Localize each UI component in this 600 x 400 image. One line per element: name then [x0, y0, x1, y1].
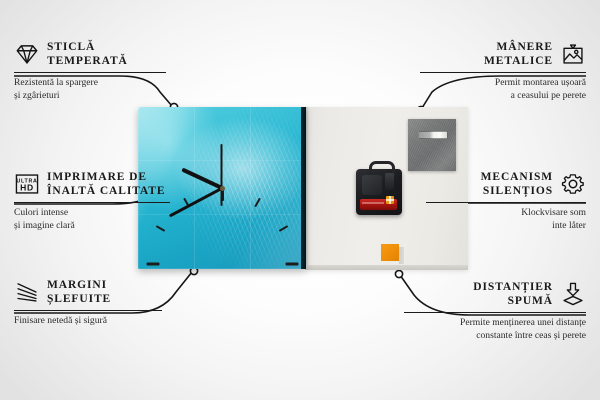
callout-title: MARGINI ȘLEFUITE	[47, 278, 111, 306]
infographic-canvas: STICLĂ TEMPERATĂ Rezistentă la spargere …	[0, 0, 600, 400]
callout-manere-metalice: MÂNERE METALICE Permit montarea ușoară a…	[420, 40, 586, 103]
marker-distantier	[395, 270, 402, 277]
callout-rule	[426, 202, 586, 203]
clock-center-pin	[220, 186, 225, 191]
gear-icon	[560, 171, 586, 197]
metal-hanger-plate	[408, 119, 456, 171]
callout-subtitle: Finisare netedă și sigură	[14, 315, 162, 328]
ultra-hd-icon: ultra HD	[14, 171, 40, 197]
callout-rule	[14, 310, 162, 311]
callout-subtitle: Permit montarea ușoară a ceasului pe per…	[420, 77, 586, 102]
callout-distantier-spuma: DISTANȚIER SPUMĂ Permite menținerea unei…	[404, 280, 586, 343]
picture-hanger-icon	[560, 41, 586, 67]
callout-title: DISTANȚIER SPUMĂ	[473, 280, 553, 308]
svg-text:HD: HD	[20, 183, 34, 193]
callout-title-row: DISTANȚIER SPUMĂ	[404, 280, 586, 308]
callout-title-row: ultra HD IMPRIMARE DE ÎNALTĂ CALITATE	[14, 170, 170, 198]
callout-title: IMPRIMARE DE ÎNALTĂ CALITATE	[47, 170, 165, 198]
callout-title-row: STICLĂ TEMPERATĂ	[14, 40, 166, 68]
foam-spacer-shadow	[399, 247, 404, 264]
callout-margini-slefuite: MARGINI ȘLEFUITE Finisare netedă și sigu…	[14, 278, 162, 328]
callout-title-row: MÂNERE METALICE	[420, 40, 586, 68]
callout-rule	[14, 202, 170, 203]
panel-bottom-edge	[305, 265, 468, 270]
callout-title-row: MARGINI ȘLEFUITE	[14, 278, 162, 306]
callout-title: MECANISM SILENȚIOS	[481, 170, 553, 198]
hanger-slot	[418, 131, 448, 139]
callout-rule	[420, 72, 586, 73]
clock-glass-edge	[301, 107, 306, 269]
callout-rule	[404, 312, 586, 313]
foam-spacer-icon	[560, 281, 586, 307]
battery-terminal	[386, 196, 394, 204]
mechanism-body	[362, 175, 382, 195]
callout-subtitle: Klockvisare som inte låter	[426, 207, 586, 232]
clock-mechanism	[356, 169, 402, 215]
callout-title: MÂNERE METALICE	[484, 40, 553, 68]
callout-title-row: MECANISM SILENȚIOS	[426, 170, 586, 198]
callout-subtitle: Permite menținerea unei distanțe constan…	[404, 317, 586, 342]
callout-sticla-temperata: STICLĂ TEMPERATĂ Rezistentă la spargere …	[14, 40, 166, 103]
mechanism-shaft	[385, 173, 394, 190]
foam-spacer	[381, 244, 399, 261]
diamond-icon	[14, 41, 40, 67]
polished-edges-icon	[14, 279, 40, 305]
callout-mecanism-silentios: MECANISM SILENȚIOS Klockvisare som inte …	[426, 170, 586, 233]
callout-subtitle: Rezistentă la spargere și zgârieturi	[14, 77, 166, 102]
product-photo	[138, 107, 468, 269]
callout-rule	[14, 72, 166, 73]
callout-title: STICLĂ TEMPERATĂ	[47, 40, 128, 68]
callout-imprimare-calitate: ultra HD IMPRIMARE DE ÎNALTĂ CALITATE Cu…	[14, 170, 170, 233]
callout-subtitle: Culori intense și imagine clară	[14, 207, 170, 232]
